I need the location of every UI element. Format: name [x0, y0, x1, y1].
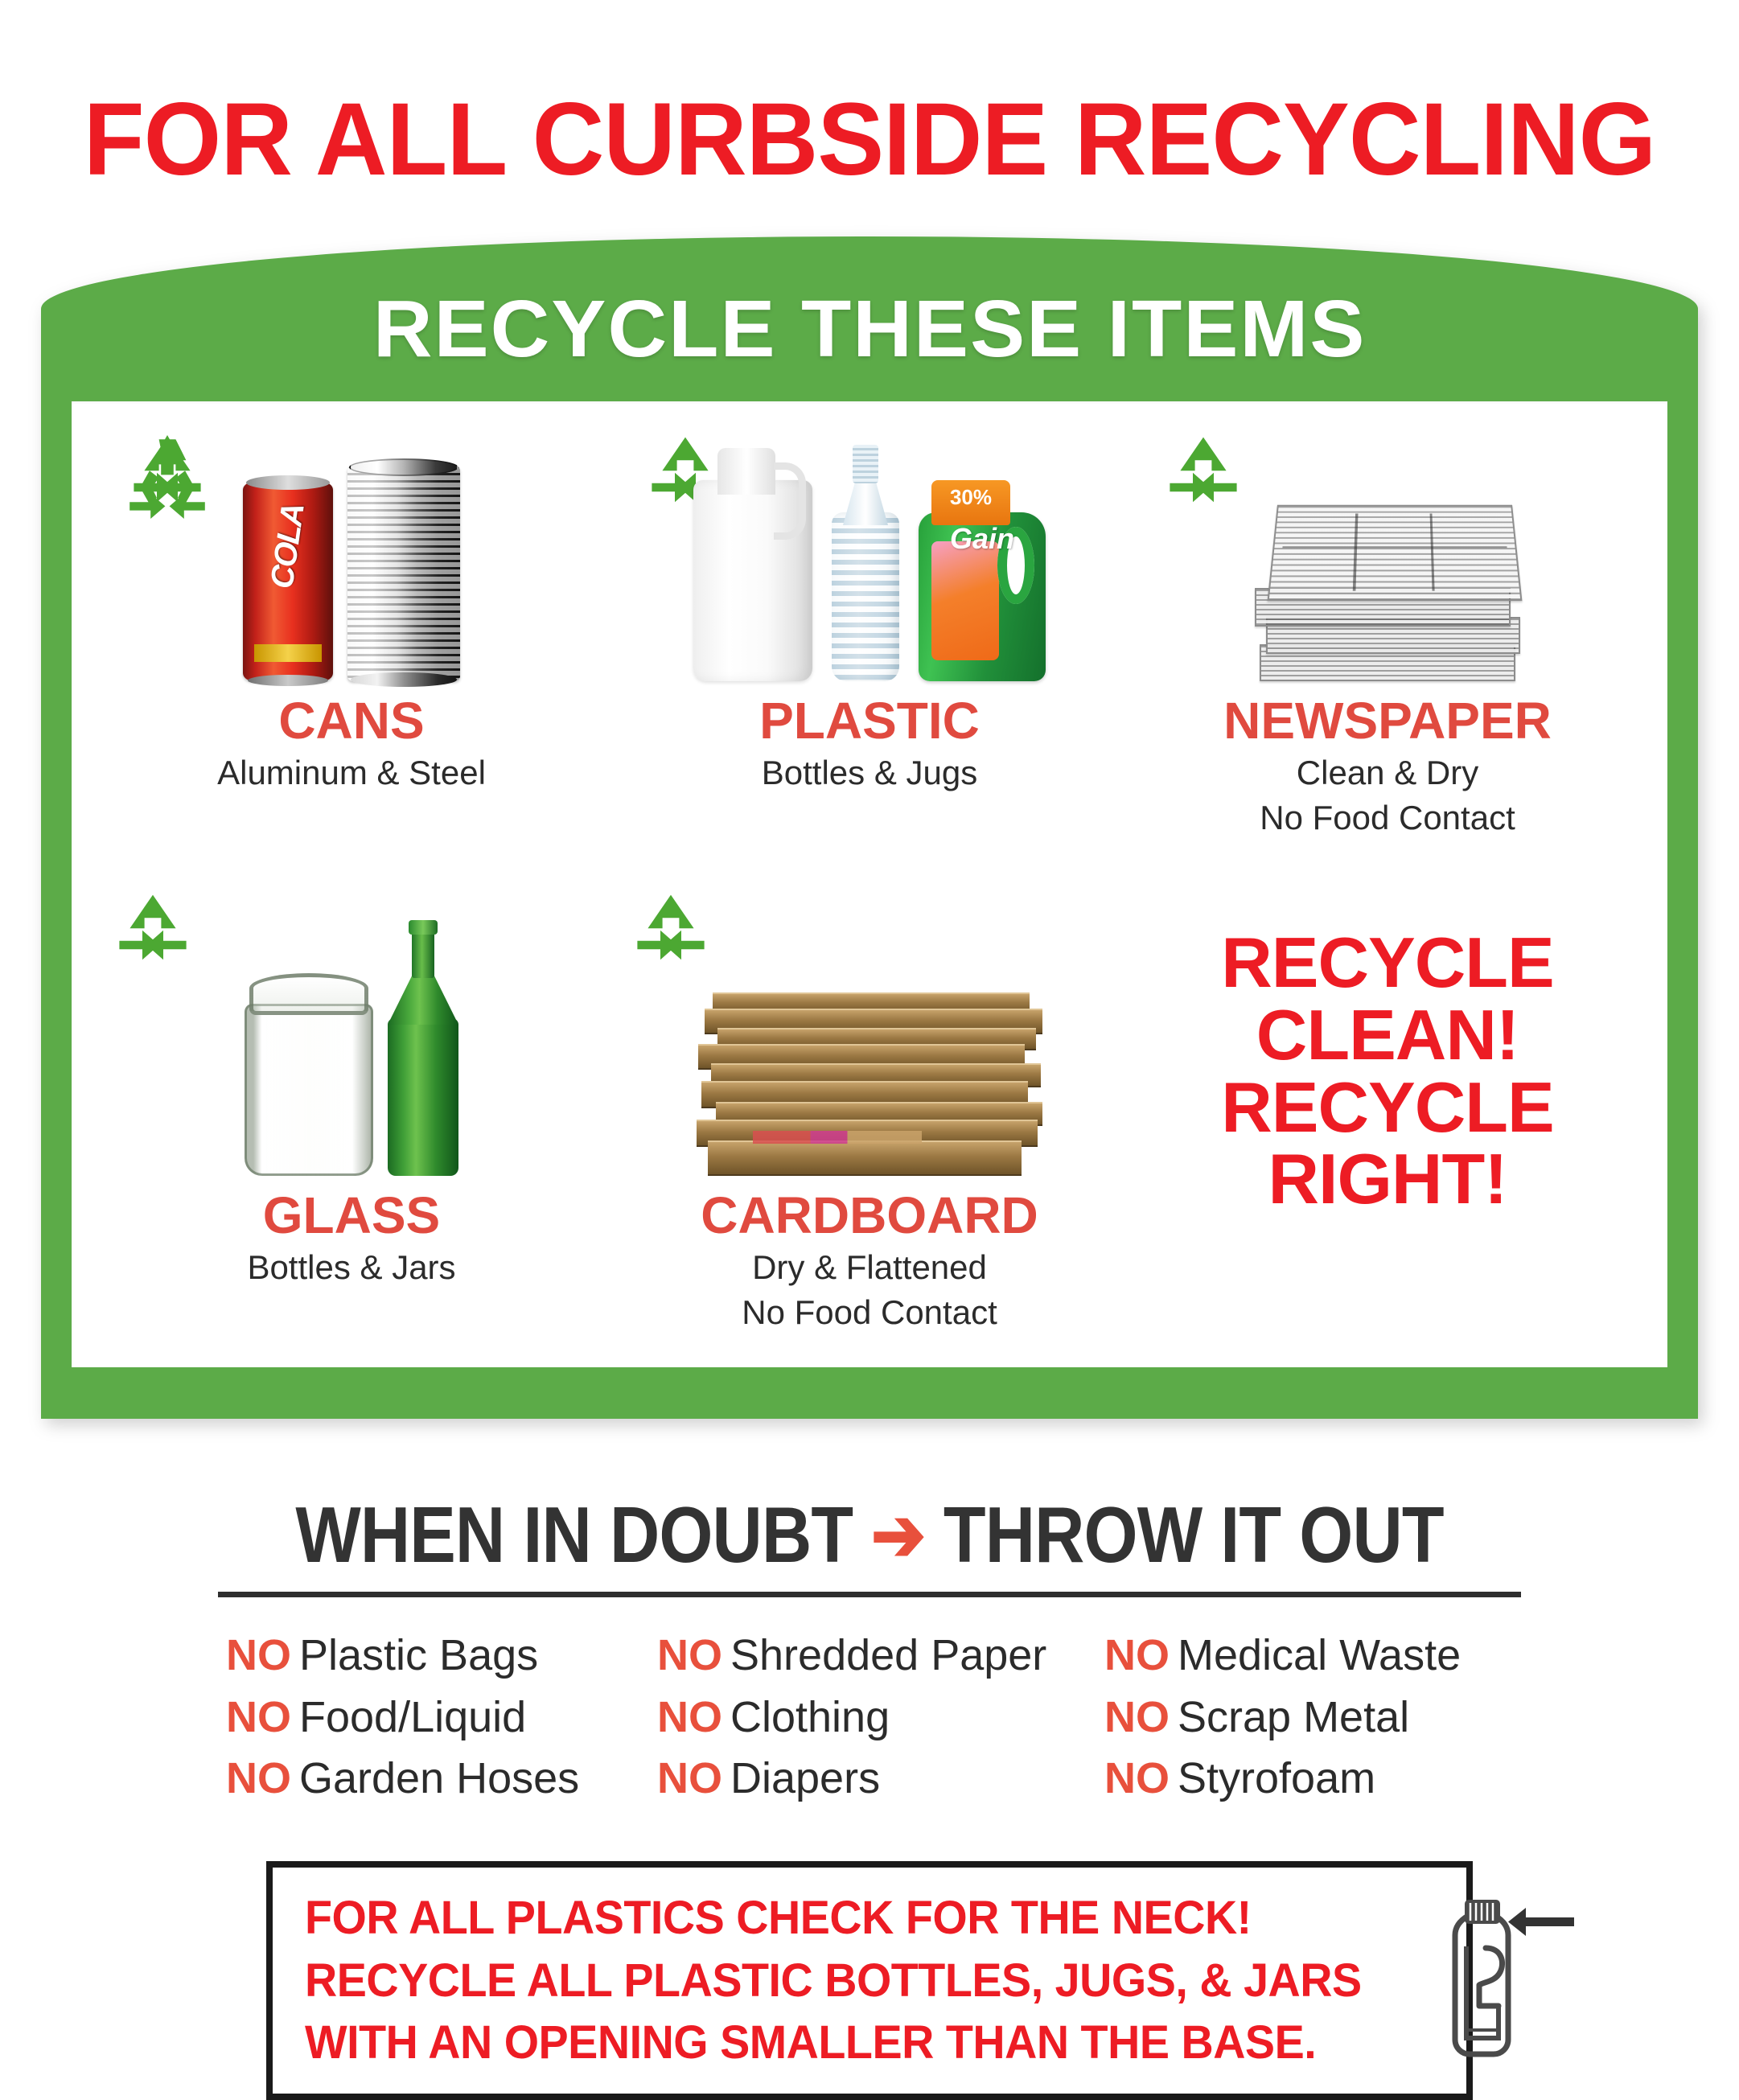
list-item: NOFood/Liquid — [226, 1687, 635, 1749]
list-item: NOGarden Hoses — [226, 1748, 635, 1810]
recycle-symbol-icon — [115, 429, 220, 525]
glass-jar-image — [245, 973, 373, 1176]
no-keyword: NO — [226, 1693, 291, 1741]
newspaper-artwork — [1128, 416, 1646, 681]
slogan-line-4: RIGHT! — [1221, 1143, 1554, 1215]
glass-objects — [245, 917, 458, 1176]
glass-title: GLASS — [263, 1189, 440, 1243]
newspaper-title: NEWSPAPER — [1223, 694, 1552, 748]
no-keyword: NO — [226, 1754, 291, 1802]
no-keyword: NO — [657, 1693, 722, 1741]
recycle-symbol-icon — [1151, 429, 1256, 525]
cardboard-title: CARDBOARD — [701, 1189, 1038, 1243]
list-item: NOScrap Metal — [1104, 1687, 1513, 1749]
sign-banner-title: RECYCLE THESE ITEMS — [373, 283, 1367, 376]
milk-jug-image — [693, 448, 812, 681]
recycle-symbol-icon — [101, 886, 205, 983]
cola-can-image: COLA — [243, 482, 333, 681]
cola-can-label: COLA — [264, 499, 312, 594]
prohibited-label: Food/Liquid — [299, 1693, 526, 1741]
cans-artwork: COLA — [92, 416, 610, 681]
no-keyword: NO — [1104, 1754, 1170, 1802]
prohibited-label: Diapers — [730, 1754, 880, 1802]
recycle-sign-panel: RECYCLE THESE ITEMS — [41, 236, 1698, 1419]
bottle-neck-arrow-icon — [1405, 1888, 1582, 2073]
category-row-1: COLA CANS Aluminum & Steel — [92, 416, 1646, 878]
prohibited-label: Medical Waste — [1178, 1631, 1461, 1679]
slogan-line-1: RECYCLE — [1221, 927, 1554, 999]
throw-it-out-text: THROW IT OUT — [943, 1490, 1444, 1580]
plastic-artwork: 30% Gain — [610, 416, 1128, 681]
prohibited-column-3: NOMedical Waste NOScrap Metal NOStyrofoa… — [1066, 1625, 1513, 1810]
slogan-line-2: CLEAN! — [1221, 999, 1554, 1071]
prohibited-column-1: NOPlastic Bags NOFood/Liquid NOGarden Ho… — [226, 1625, 635, 1810]
category-glass: GLASS Bottles & Jars — [92, 878, 610, 1357]
prohibited-label: Clothing — [730, 1693, 890, 1741]
neck-box-line-1: FOR ALL PLASTICS CHECK FOR THE NECK! — [305, 1887, 1362, 1950]
sign-banner: RECYCLE THESE ITEMS — [41, 236, 1698, 401]
when-in-doubt-section: WHEN IN DOUBT ➔ THROW IT OUT NOPlastic B… — [218, 1490, 1521, 1810]
detergent-brand-label: Gain — [919, 522, 1046, 556]
newspaper-stack-image — [1255, 488, 1520, 681]
recycle-symbol-icon — [619, 886, 723, 983]
neck-box-text: FOR ALL PLASTICS CHECK FOR THE NECK! REC… — [305, 1887, 1362, 2074]
prohibited-label: Plastic Bags — [299, 1631, 538, 1679]
prohibited-label: Garden Hoses — [299, 1754, 579, 1802]
list-item: NOMedical Waste — [1104, 1625, 1513, 1687]
cola-can-band — [254, 644, 322, 662]
neck-box-line-3: WITH AN OPENING SMALLER THAN THE BASE. — [305, 2012, 1362, 2074]
cans-objects: COLA — [243, 466, 460, 681]
category-grid: COLA CANS Aluminum & Steel — [72, 401, 1667, 1367]
no-keyword: NO — [657, 1631, 722, 1679]
glass-subtitle-line-1: Bottles & Jars — [247, 1247, 455, 1288]
steel-tin-can-image — [347, 466, 460, 681]
no-keyword: NO — [226, 1631, 291, 1679]
category-row-2: GLASS Bottles & Jars — [92, 878, 1646, 1357]
glass-artwork — [92, 878, 610, 1176]
cardboard-stack-image — [697, 975, 1042, 1176]
plastic-subtitle-line-1: Bottles & Jugs — [762, 753, 977, 793]
right-arrow-icon: ➔ — [871, 1498, 925, 1572]
list-item: NOShredded Paper — [657, 1625, 1066, 1687]
category-cardboard: CARDBOARD Dry & Flattened No Food Contac… — [610, 878, 1128, 1357]
no-keyword: NO — [1104, 1693, 1170, 1741]
category-plastic: 30% Gain PLASTIC Bottles & Jugs — [610, 416, 1128, 878]
list-item: NODiapers — [657, 1748, 1066, 1810]
newspaper-subtitle-line-1: Clean & Dry — [1297, 753, 1478, 793]
list-item: NOPlastic Bags — [226, 1625, 635, 1687]
cardboard-subtitle-line-1: Dry & Flattened — [752, 1247, 987, 1288]
category-cans: COLA CANS Aluminum & Steel — [92, 416, 610, 878]
detergent-bottle-image: 30% Gain — [919, 480, 1046, 681]
prohibited-items-grid: NOPlastic Bags NOFood/Liquid NOGarden Ho… — [218, 1625, 1521, 1810]
prohibited-label: Shredded Paper — [730, 1631, 1046, 1679]
water-bottle-image — [827, 440, 904, 681]
prohibited-label: Scrap Metal — [1178, 1693, 1409, 1741]
page-title: FOR ALL CURBSIDE RECYCLING — [26, 0, 1712, 191]
slogan-line-3: RECYCLE — [1221, 1071, 1554, 1144]
cans-subtitle-line-1: Aluminum & Steel — [217, 753, 486, 793]
category-newspaper: NEWSPAPER Clean & Dry No Food Contact — [1128, 416, 1646, 878]
list-item: NOClothing — [657, 1687, 1066, 1749]
newspaper-subtitle-line-2: No Food Contact — [1260, 798, 1515, 838]
no-keyword: NO — [657, 1754, 722, 1802]
prohibited-column-2: NOShredded Paper NOClothing NODiapers — [635, 1625, 1066, 1810]
when-in-doubt-heading: WHEN IN DOUBT ➔ THROW IT OUT — [296, 1490, 1443, 1580]
neck-box-line-2: RECYCLE ALL PLASTIC BOTTLES, JUGS, & JAR… — [305, 1950, 1362, 2012]
cans-title: CANS — [278, 694, 424, 748]
divider-rule — [218, 1592, 1521, 1597]
plastic-objects: 30% Gain — [693, 440, 1046, 681]
plastic-title: PLASTIC — [759, 694, 980, 748]
sign-inner-white-area: COLA CANS Aluminum & Steel — [72, 401, 1667, 1367]
cardboard-artwork — [610, 878, 1128, 1176]
list-item: NOStyrofoam — [1104, 1748, 1513, 1810]
when-in-doubt-left-text: WHEN IN DOUBT — [295, 1490, 853, 1580]
no-keyword: NO — [1104, 1631, 1170, 1679]
prohibited-label: Styrofoam — [1178, 1754, 1375, 1802]
cardboard-subtitle-line-2: No Food Contact — [742, 1292, 997, 1333]
slogan-block: RECYCLE CLEAN! RECYCLE RIGHT! — [1128, 878, 1646, 1357]
detergent-burst-label: 30% — [931, 485, 1010, 510]
green-glass-bottle-image — [388, 917, 458, 1176]
check-for-the-neck-box: FOR ALL PLASTICS CHECK FOR THE NECK! REC… — [266, 1861, 1473, 2100]
